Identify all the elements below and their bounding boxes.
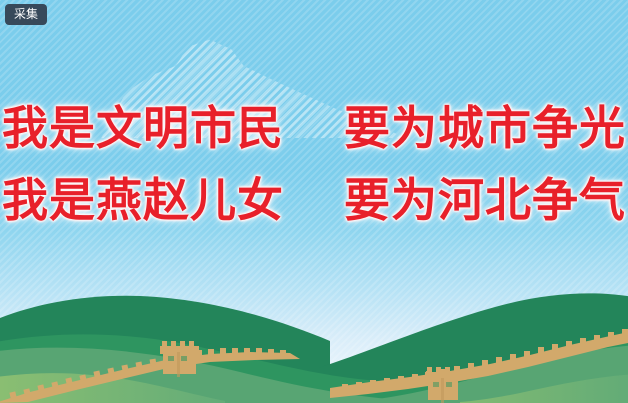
slogan-line-2-left: 我是燕赵儿女 (2, 173, 284, 227)
great-wall-left-watchtower (160, 341, 199, 377)
slogan-line-2: 我是燕赵儿女 要为河北争气 (0, 164, 628, 236)
capture-button[interactable]: 采集 (5, 4, 47, 25)
civility-slogan-banner: 我是文明市民 要为城市争光 我是燕赵儿女 要为河北争气 采集 (0, 0, 628, 403)
slogan-line-1-right: 要为城市争光 (344, 101, 626, 155)
great-wall-right-watchtower (425, 367, 461, 403)
slogan-line-1-left: 我是文明市民 (2, 101, 284, 155)
slogan-line-1: 我是文明市民 要为城市争光 (0, 92, 628, 164)
slogan-line-2-right: 要为河北争气 (344, 173, 626, 227)
slogan-text-block: 我是文明市民 要为城市争光 我是燕赵儿女 要为河北争气 (0, 92, 628, 236)
